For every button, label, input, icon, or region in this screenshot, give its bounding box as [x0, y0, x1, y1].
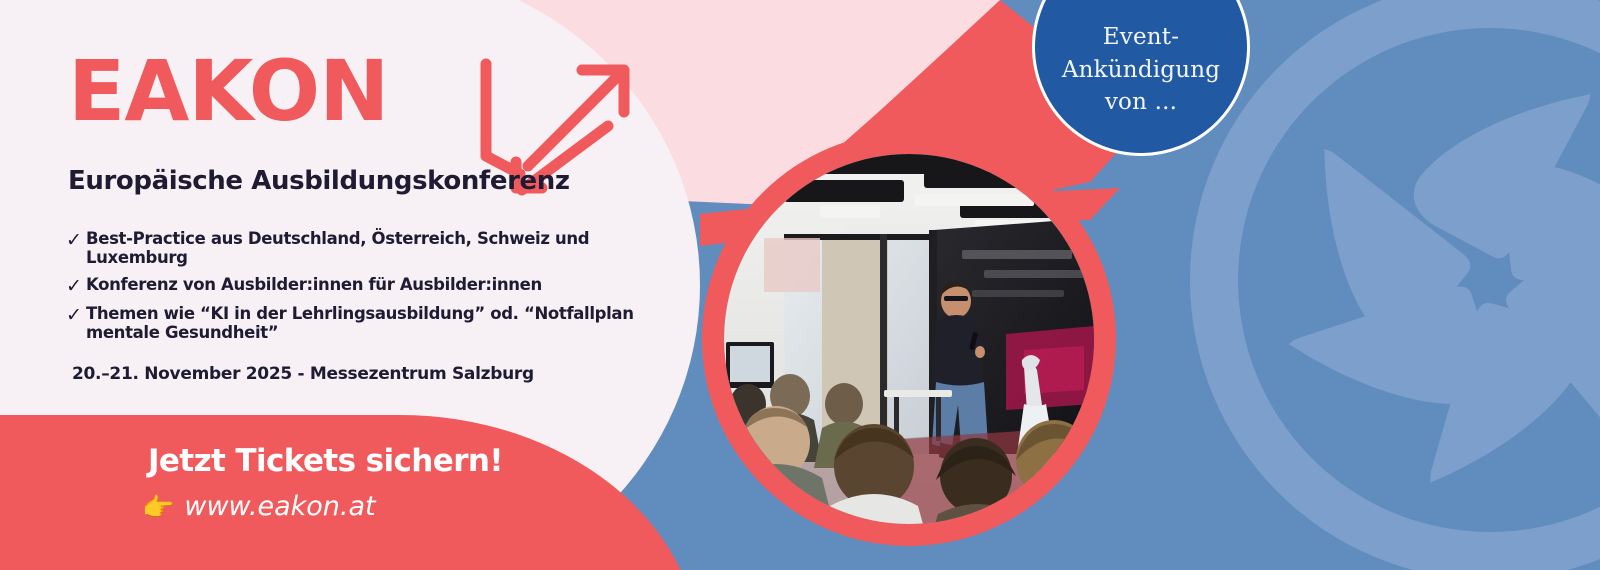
cta-headline: Jetzt Tickets sichern!: [148, 443, 503, 479]
badge-line-1: Event-: [1062, 21, 1220, 54]
event-date-venue: 20.–21. November 2025 - Messezentrum Sal…: [72, 364, 534, 384]
logo-wordmark: EAKON: [68, 52, 388, 132]
photo-circle-frame: [702, 132, 1116, 546]
list-item-label: Themen wie “KI in der Lehrlingsausbildun…: [86, 305, 686, 343]
cta-link-row[interactable]: 👉 www.eakon.at: [142, 491, 376, 522]
list-item-label: Konferenz von Ausbilder:innen für Ausbil…: [86, 276, 542, 295]
citrus-slice-watermark: [1190, 0, 1600, 570]
conference-audience-photo: [724, 154, 1094, 524]
logo-subtitle: Europäische Ausbildungskonferenz: [68, 166, 570, 196]
list-item: ✓ Best-Practice aus Deutschland, Österre…: [66, 230, 686, 268]
checkmark-icon: ✓: [66, 305, 86, 326]
event-announcement-banner: EAKON Europäische Ausbildungskonferenz ✓…: [0, 0, 1600, 570]
announcement-badge: Event- Ankündigung von ...: [1032, 0, 1250, 156]
cta-website-link[interactable]: www.eakon.at: [184, 491, 375, 522]
badge-line-3: von ...: [1062, 86, 1220, 119]
feature-bullet-list: ✓ Best-Practice aus Deutschland, Österre…: [66, 230, 686, 350]
badge-line-2: Ankündigung: [1062, 54, 1220, 87]
list-item: ✓ Themen wie “KI in der Lehrlingsausbild…: [66, 305, 686, 343]
pointing-hand-icon: 👉: [142, 494, 174, 520]
announcement-badge-text: Event- Ankündigung von ...: [1062, 0, 1220, 119]
list-item: ✓ Konferenz von Ausbilder:innen für Ausb…: [66, 276, 686, 297]
photo-clip: [724, 154, 1094, 524]
checkmark-icon: ✓: [66, 276, 86, 297]
checkmark-icon: ✓: [66, 230, 86, 251]
list-item-label: Best-Practice aus Deutschland, Österreic…: [86, 230, 686, 268]
